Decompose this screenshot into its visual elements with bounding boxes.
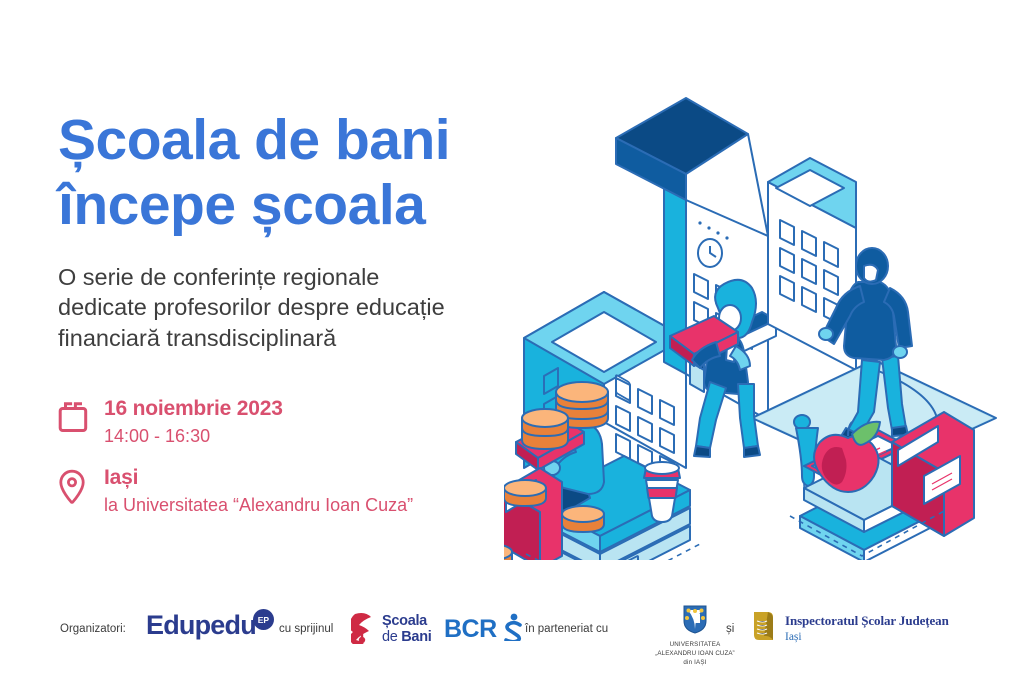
logo-edupedu[interactable]: Edupedu EP xyxy=(146,612,274,639)
footer-label-si: și xyxy=(726,623,734,635)
uaic-line2: „ALEXANDRU IOAN CUZA” xyxy=(630,650,760,659)
isj-line2: Iași xyxy=(785,630,949,644)
erste-s-icon xyxy=(502,613,524,646)
event-location-title: Iași xyxy=(104,465,413,491)
event-venue: la Universitatea “Alexandru Ioan Cuza” xyxy=(104,493,413,517)
map-pin-icon xyxy=(58,466,96,508)
page-title: Școala de bani începe școala xyxy=(58,108,563,238)
bcr-wordmark: BCR xyxy=(444,617,497,642)
uaic-crest-icon xyxy=(680,621,710,638)
event-time: 14:00 - 16:30 xyxy=(104,424,283,448)
event-location-block: Iași la Universitatea “Alexandru Ioan Cu… xyxy=(58,465,413,518)
event-date-block: 16 noiembrie 2023 14:00 - 16:30 xyxy=(58,396,283,449)
scoala-de-bani-line1: Școala xyxy=(382,614,432,629)
clock-on-facade xyxy=(698,239,722,267)
open-book-gold-icon xyxy=(750,609,776,648)
isj-line1: Inspectoratul Școlar Județean xyxy=(785,613,949,629)
calendar-icon xyxy=(58,397,96,439)
edupedu-badge-icon: EP xyxy=(253,609,274,630)
event-date-title: 16 noiembrie 2023 xyxy=(104,396,283,422)
poster-subtitle: O serie de conferințe regionale dedicate… xyxy=(58,262,563,354)
footer-label-cu-sprijinul: cu sprijinul xyxy=(279,623,333,635)
logo-scoala-de-bani[interactable]: Școala de Bani xyxy=(351,610,432,649)
logo-inspectoratul-scolar[interactable]: Inspectoratul Școlar Județean Iași xyxy=(750,609,949,648)
footer-label-in-parteneriat: în parteneriat cu xyxy=(525,623,608,635)
scoala-de-bani-mark-icon xyxy=(351,610,377,649)
footer-label-organizatori: Organizatori: xyxy=(60,623,126,635)
uaic-line1: UNIVERSITATEA xyxy=(630,641,760,650)
poster-text-column: Școala de bani începe școala O serie de … xyxy=(58,108,563,354)
logo-bcr[interactable]: BCR xyxy=(444,613,524,646)
single-coin-1 xyxy=(504,480,546,506)
hero-illustration: .ln { stroke:#2b6cb5; stroke-width:2; st… xyxy=(504,70,1024,560)
scoala-de-bani-line2-bold: Bani xyxy=(401,629,431,645)
logo-uaic[interactable]: UNIVERSITATEA „ALEXANDRU IOAN CUZA” din … xyxy=(630,604,760,668)
edupedu-wordmark: Edupedu xyxy=(146,612,256,639)
uaic-line3: din IAȘI xyxy=(630,659,760,668)
single-coin-2 xyxy=(562,506,604,532)
school-building-right-wing xyxy=(768,158,856,370)
scoala-de-bani-line2-light: de xyxy=(382,629,401,645)
